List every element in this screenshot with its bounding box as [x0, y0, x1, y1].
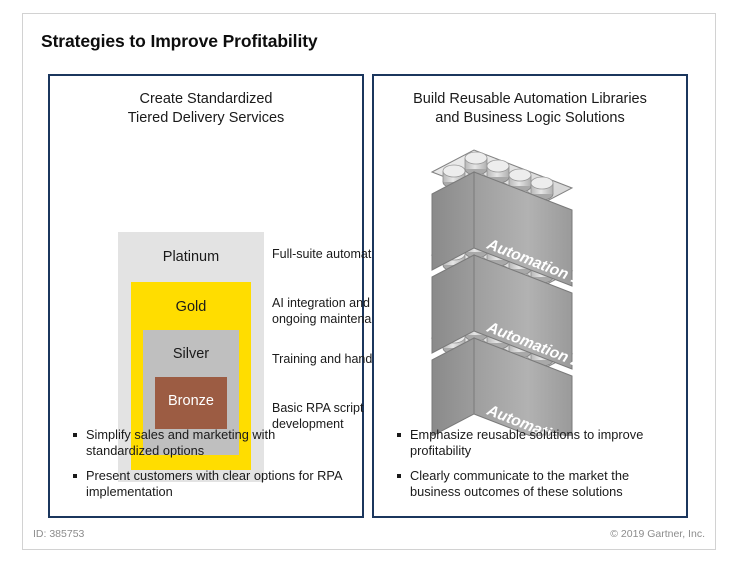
tier-label-silver: Silver — [143, 346, 239, 363]
tier-label-bronze: Bronze — [155, 393, 227, 410]
left-panel-heading-line1: Create Standardized — [50, 90, 362, 109]
footer-copyright: © 2019 Gartner, Inc. — [610, 528, 705, 540]
right-panel-bullet-list: Emphasize reusable solutions to improve … — [396, 427, 672, 500]
list-item: Clearly communicate to the market the bu… — [396, 468, 672, 500]
tier-box-bronze: Bronze — [155, 377, 227, 429]
left-panel-heading-line2: Tiered Delivery Services — [50, 109, 362, 128]
list-item: Present customers with clear options for… — [72, 468, 348, 500]
panel-create-standardized-tiered-delivery-services: Create Standardized Tiered Delivery Serv… — [48, 74, 364, 518]
list-item: Emphasize reusable solutions to improve … — [396, 427, 672, 459]
page-title: Strategies to Improve Profitability — [41, 31, 318, 52]
right-panel-heading: Build Reusable Automation Libraries and … — [374, 90, 686, 128]
right-panel-heading-line2: and Business Logic Solutions — [374, 109, 686, 128]
brick-stack-illustration: Automation 3 Automation 2 — [414, 146, 654, 436]
tier-label-gold: Gold — [131, 299, 251, 316]
list-item: Simplify sales and marketing with standa… — [72, 427, 348, 459]
footer-id: ID: 385753 — [33, 528, 84, 540]
tier-label-platinum: Platinum — [118, 249, 264, 266]
slide-canvas: Strategies to Improve Profitability Crea… — [0, 0, 738, 564]
panel-build-reusable-automation-libraries: Build Reusable Automation Libraries and … — [372, 74, 688, 518]
right-panel-heading-line1: Build Reusable Automation Libraries — [374, 90, 686, 109]
left-panel-bullet-list: Simplify sales and marketing with standa… — [72, 427, 348, 500]
left-panel-heading: Create Standardized Tiered Delivery Serv… — [50, 90, 362, 128]
